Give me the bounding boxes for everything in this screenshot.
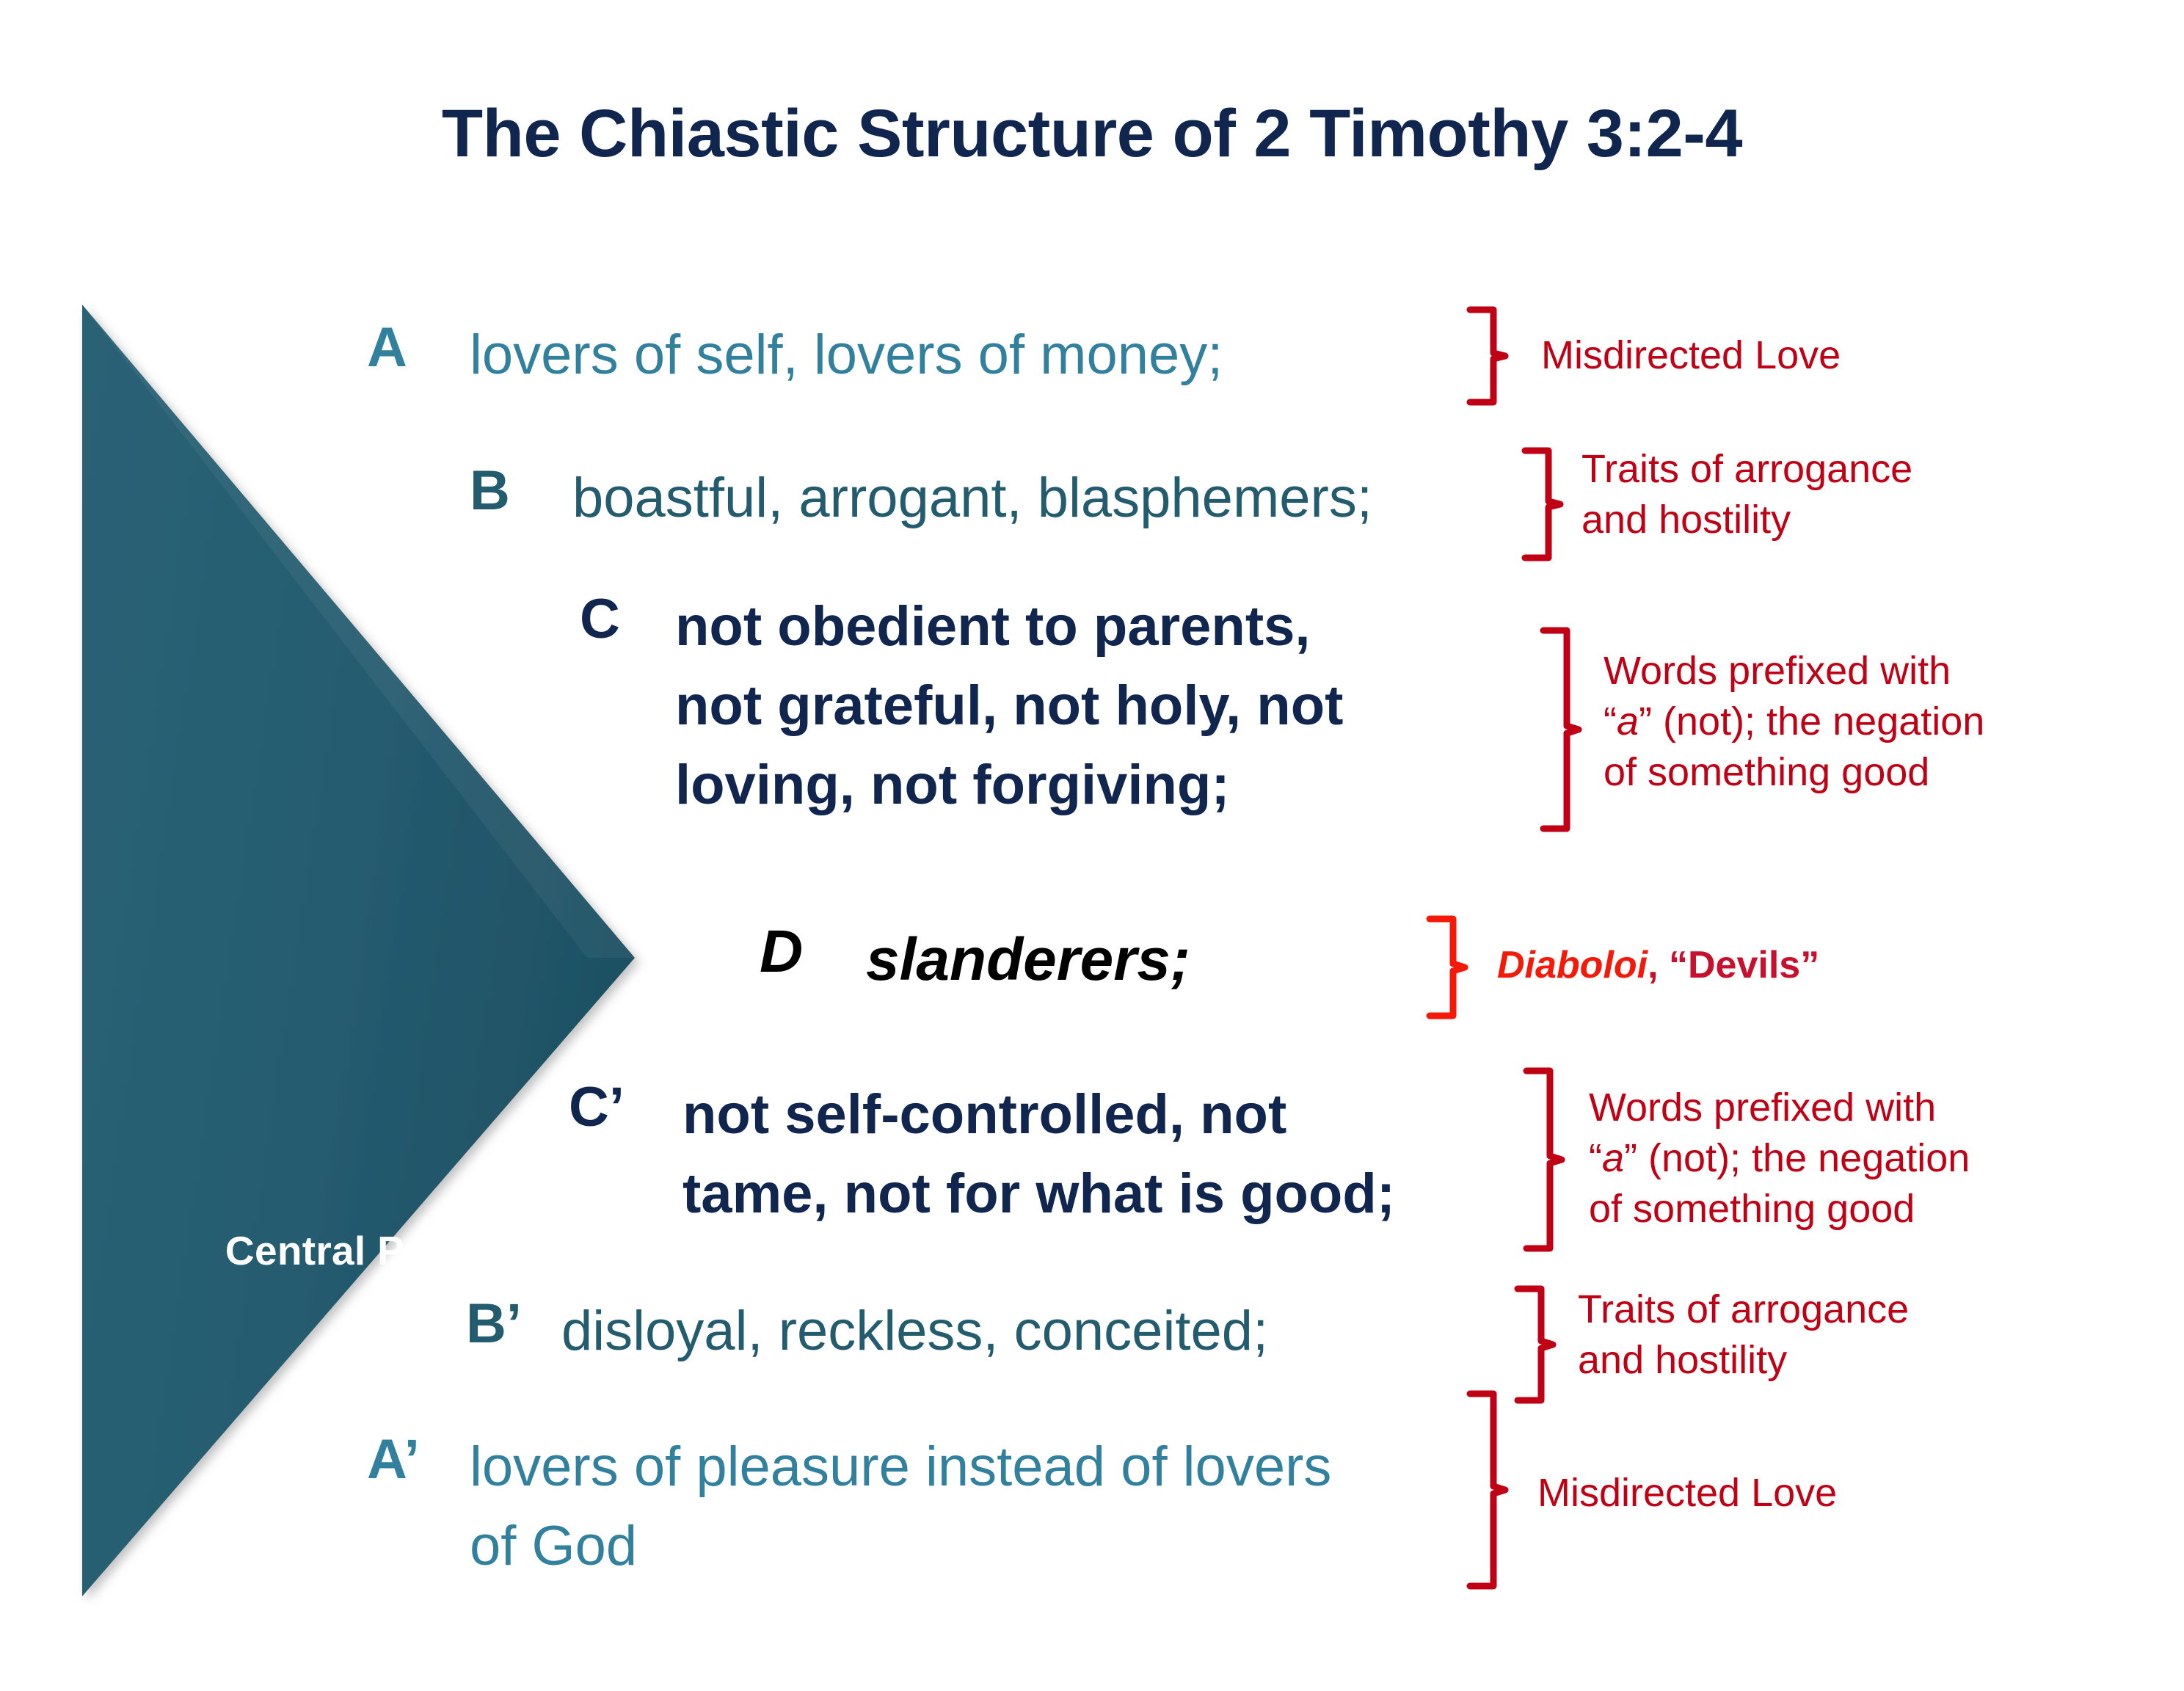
row-marker-c: C [580, 587, 620, 651]
row-text-b: boastful, arrogant, blasphemers; [572, 459, 1600, 538]
annotation-c-line2-pre: “ [1604, 699, 1617, 743]
brace-d [1416, 916, 1468, 1019]
row-text-c-prime: not self-controlled, not tame, not for w… [682, 1075, 1563, 1234]
central-point-triangle: Central Point [73, 294, 653, 1607]
row-marker-a: A [367, 316, 407, 379]
row-marker-d: D [760, 917, 803, 986]
annotation-b: Traits of arrogance and hostility [1581, 444, 2154, 545]
annotation-c-prime-line2-pre: “ [1589, 1136, 1602, 1180]
brace-b [1512, 448, 1563, 561]
annotation-c-line2-italic: a [1617, 699, 1639, 743]
chiastic-structure-diagram: The Chiastic Structure of 2 Timothy 3:2-… [0, 0, 2184, 1691]
row-marker-b: B [470, 459, 510, 523]
row-text-b-prime: disloyal, reckless, conceited; [561, 1292, 1589, 1371]
annotation-d-italic: Diaboloi [1497, 944, 1648, 986]
brace-c [1530, 628, 1581, 832]
central-point-triangle-shape [73, 294, 653, 1607]
annotation-c-line2-post: ” (not); the negation [1639, 699, 1984, 743]
annotation-a: Misdirected Love [1541, 330, 2099, 381]
brace-c-prime [1513, 1068, 1565, 1251]
annotation-c-prime-line1: Words prefixed with [1589, 1085, 1936, 1130]
annotation-a-prime: Misdirected Love [1537, 1468, 2117, 1519]
central-point-label: Central Point [183, 1227, 521, 1274]
row-text-a-prime: lovers of pleasure instead of lovers of … [470, 1428, 1512, 1586]
annotation-c-prime-line2-italic: a [1602, 1136, 1624, 1180]
annotation-d: Diaboloi, “Devils” [1497, 941, 2128, 990]
annotation-c: Words prefixed with“a” (not); the negati… [1604, 646, 2183, 798]
row-marker-c-prime: C’ [569, 1075, 625, 1139]
annotation-c-line1: Words prefixed with [1604, 649, 1951, 693]
page-title: The Chiastic Structure of 2 Timothy 3:2-… [0, 95, 2184, 172]
annotation-c-prime: Words prefixed with“a” (not); the negati… [1589, 1083, 2169, 1234]
row-text-a: lovers of self, lovers of money; [470, 316, 1497, 395]
annotation-b-prime: Traits of arrogance and hostility [1578, 1284, 2158, 1386]
brace-a-prime [1457, 1391, 1508, 1589]
annotation-d-rest: , “Devils” [1648, 944, 1819, 986]
annotation-c-prime-line2-post: ” (not); the negation [1624, 1136, 1970, 1180]
brace-a [1457, 307, 1508, 406]
row-marker-b-prime: B’ [466, 1292, 522, 1356]
row-text-c: not obedient to parents, not grateful, n… [675, 587, 1556, 825]
annotation-c-line3: of something good [1604, 750, 1929, 794]
brace-b-prime [1504, 1286, 1556, 1403]
annotation-c-prime-line3: of something good [1589, 1187, 1915, 1231]
row-marker-a-prime: A’ [367, 1428, 420, 1491]
